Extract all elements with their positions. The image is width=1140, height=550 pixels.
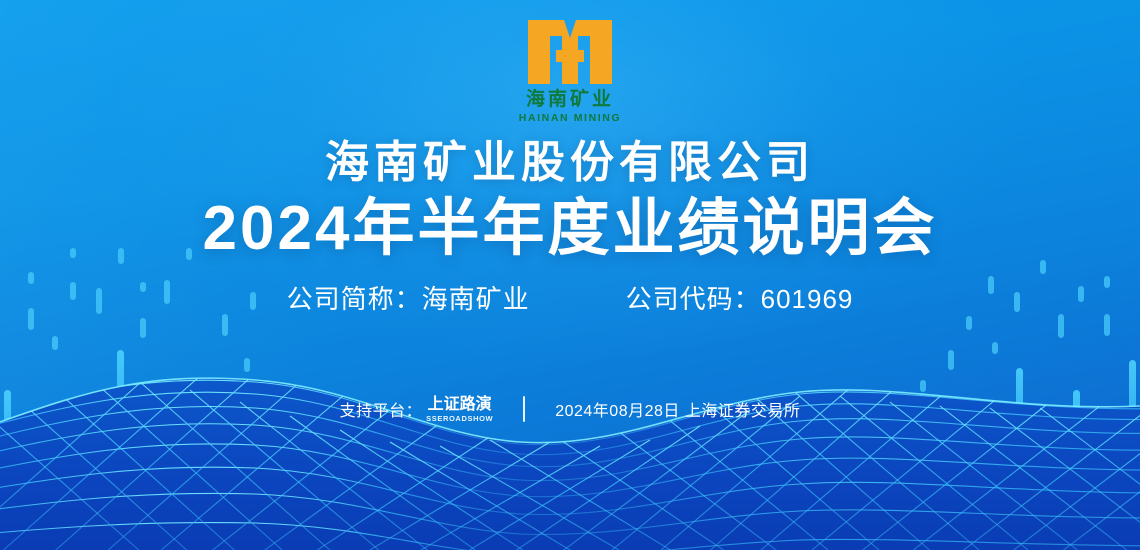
sse-roadshow-cn: 上证路演: [428, 396, 492, 413]
sse-roadshow-logo[interactable]: 上证路演 SSEROADSHOW: [426, 397, 493, 423]
logo-chinese-name: 海南矿业: [460, 90, 680, 111]
sse-roadshow-en: SSEROADSHOW: [426, 415, 493, 423]
date-and-venue: 2024年08月28日 上海证券交易所: [555, 397, 800, 421]
event-title: 2024年半年度业绩说明会: [0, 195, 1140, 263]
logo-english-name: HAINAN MINING: [460, 112, 680, 124]
company-full-name: 海南矿业股份有限公司: [0, 138, 1140, 187]
footer-bar: 支持平台： 上证路演 SSEROADSHOW 2024年08月28日 上海证券交…: [0, 396, 1140, 422]
footer-divider: [523, 396, 525, 422]
presentation-banner: 海南矿业 HAINAN MINING 海南矿业股份有限公司 2024年半年度业绩…: [0, 0, 1140, 550]
title-block: 海南矿业股份有限公司 2024年半年度业绩说明会 公司简称：海南矿业 公司代码：…: [0, 138, 1140, 316]
company-code: 公司代码：601969: [626, 279, 854, 316]
hainan-mining-m-monogram-icon: [522, 16, 618, 88]
wireframe-wave-mesh: [0, 350, 1140, 550]
company-logo: 海南矿业 HAINAN MINING: [460, 16, 680, 124]
subtitle-row: 公司简称：海南矿业 公司代码：601969: [0, 279, 1140, 316]
platform-label: 支持平台：: [340, 397, 423, 421]
company-abbreviation: 公司简称：海南矿业: [287, 279, 530, 316]
